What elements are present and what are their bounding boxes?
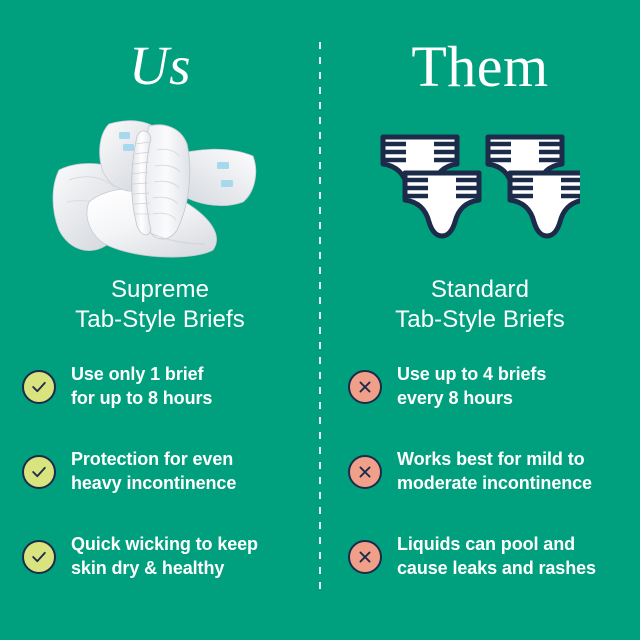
check-circle-icon <box>22 370 56 404</box>
bullet-text: Works best for mild to moderate incontin… <box>397 448 592 496</box>
subtitle-them-line-1: Standard <box>320 275 640 305</box>
bullet-item: Use up to 4 briefs every 8 hours <box>320 358 640 416</box>
headline-them: Them <box>320 38 640 96</box>
bullet-text: Protection for even heavy incontinence <box>71 448 236 496</box>
supreme-brief-photo <box>45 110 275 260</box>
bullet-list-us: Use only 1 brief for up to 8 hours Prote… <box>0 358 320 613</box>
bullet-text-line-1: Quick wicking to keep <box>71 533 258 557</box>
bullet-text-line-1: Use only 1 brief <box>71 363 212 387</box>
hero-them <box>320 108 640 263</box>
brief-icon <box>510 173 580 236</box>
bullet-text-line-1: Works best for mild to <box>397 448 592 472</box>
bullet-item: Protection for even heavy incontinence <box>0 443 320 501</box>
bullet-item: Quick wicking to keep skin dry & healthy <box>0 528 320 586</box>
bullet-text: Quick wicking to keep skin dry & healthy <box>71 533 258 581</box>
subtitle-them: Standard Tab-Style Briefs <box>320 275 640 335</box>
check-circle-icon <box>22 540 56 574</box>
brief-icon <box>405 173 479 236</box>
bullet-text: Use up to 4 briefs every 8 hours <box>397 363 546 411</box>
headline-us: Us <box>0 38 320 93</box>
hero-us <box>0 108 320 263</box>
cross-circle-icon <box>348 455 382 489</box>
bullet-item: Liquids can pool and cause leaks and ras… <box>320 528 640 586</box>
comparison-columns: Us <box>0 0 640 640</box>
bullet-text-line-1: Protection for even <box>71 448 236 472</box>
bullet-text-line-2: cause leaks and rashes <box>397 557 596 581</box>
bullet-text-line-2: for up to 8 hours <box>71 387 212 411</box>
bullet-text-line-2: heavy incontinence <box>71 472 236 496</box>
bullet-item: Use only 1 brief for up to 8 hours <box>0 358 320 416</box>
column-them: Them <box>320 0 640 640</box>
four-briefs-icon-group <box>380 134 580 239</box>
column-us: Us <box>0 0 320 640</box>
subtitle-us-line-2: Tab-Style Briefs <box>0 305 320 335</box>
bullet-text: Liquids can pool and cause leaks and ras… <box>397 533 596 581</box>
bullet-list-them: Use up to 4 briefs every 8 hours Works b… <box>320 358 640 613</box>
cross-circle-icon <box>348 370 382 404</box>
subtitle-us: Supreme Tab-Style Briefs <box>0 275 320 335</box>
comparison-infographic: Us <box>0 0 640 640</box>
bullet-text: Use only 1 brief for up to 8 hours <box>71 363 212 411</box>
cross-circle-icon <box>348 540 382 574</box>
bullet-text-line-1: Use up to 4 briefs <box>397 363 546 387</box>
bullet-text-line-2: skin dry & healthy <box>71 557 258 581</box>
bullet-text-line-2: moderate incontinence <box>397 472 592 496</box>
check-circle-icon <box>22 455 56 489</box>
subtitle-us-line-1: Supreme <box>0 275 320 305</box>
bullet-text-line-2: every 8 hours <box>397 387 546 411</box>
bullet-text-line-1: Liquids can pool and <box>397 533 596 557</box>
subtitle-them-line-2: Tab-Style Briefs <box>320 305 640 335</box>
bullet-item: Works best for mild to moderate incontin… <box>320 443 640 501</box>
